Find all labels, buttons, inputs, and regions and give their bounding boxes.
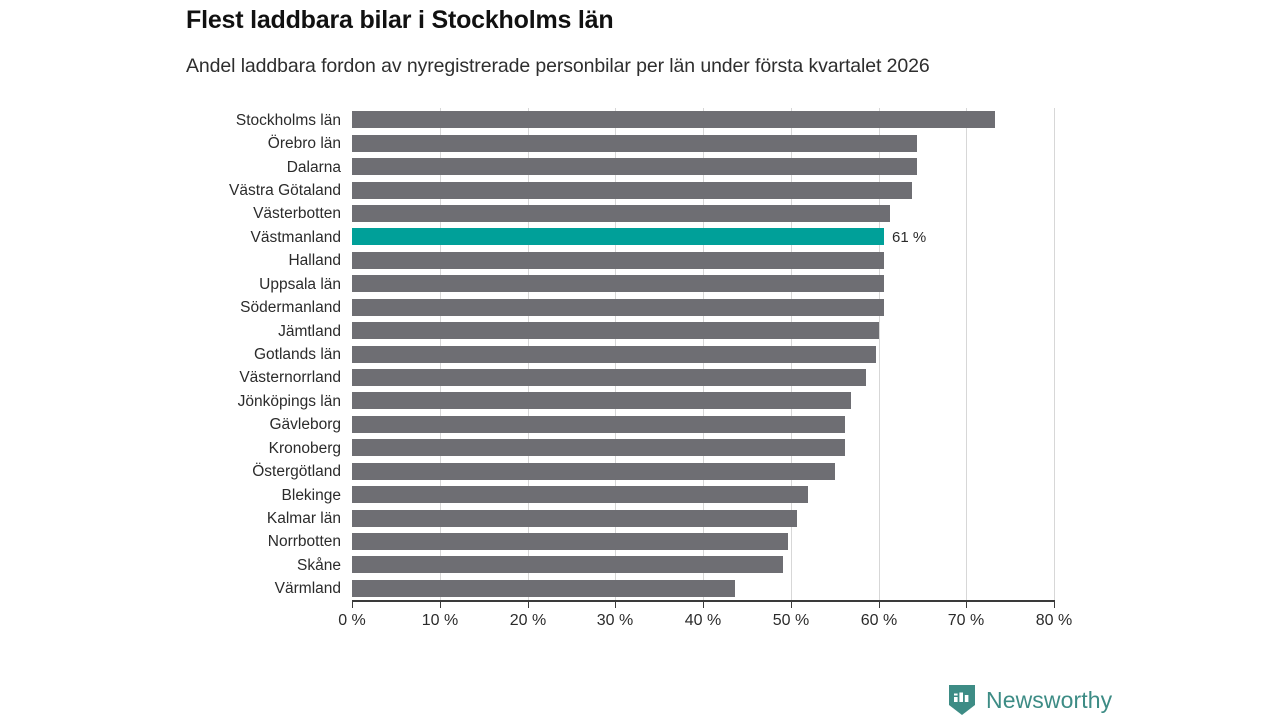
category-label: Stockholms län xyxy=(41,112,341,130)
category-label: Halland xyxy=(41,252,341,270)
category-label: Uppsala län xyxy=(41,276,341,294)
category-label: Blekinge xyxy=(41,487,341,505)
category-label: Kronoberg xyxy=(41,440,341,458)
bar-value-label: 61 % xyxy=(892,229,926,246)
x-axis-tick xyxy=(615,602,616,608)
category-label: Södermanland xyxy=(41,299,341,317)
bar-highlighted[interactable] xyxy=(352,228,884,245)
bar[interactable] xyxy=(352,510,797,527)
category-label: Dalarna xyxy=(41,159,341,177)
x-axis-tick xyxy=(1054,602,1055,608)
category-label: Östergötland xyxy=(41,463,341,481)
x-tick-label: 80 % xyxy=(1014,612,1094,630)
x-axis-tick xyxy=(528,602,529,608)
x-tick-label: 40 % xyxy=(663,612,743,630)
x-tick-label: 50 % xyxy=(751,612,831,630)
category-label: Jönköpings län xyxy=(41,393,341,411)
category-label: Kalmar län xyxy=(41,510,341,528)
bar[interactable] xyxy=(352,182,912,199)
category-label: Värmland xyxy=(41,580,341,598)
x-axis-tick xyxy=(440,602,441,608)
x-tick-label: 30 % xyxy=(575,612,655,630)
category-label: Skåne xyxy=(41,557,341,575)
bar[interactable] xyxy=(352,346,876,363)
x-axis-tick xyxy=(703,602,704,608)
x-tick-label: 0 % xyxy=(312,612,392,630)
x-axis-tick xyxy=(966,602,967,608)
bar[interactable] xyxy=(352,275,884,292)
gridline xyxy=(1054,108,1055,600)
bar[interactable] xyxy=(352,463,835,480)
x-tick-label: 20 % xyxy=(488,612,568,630)
bar[interactable] xyxy=(352,205,890,222)
bar[interactable] xyxy=(352,486,808,503)
plot-area xyxy=(352,108,1054,600)
category-label: Örebro län xyxy=(41,135,341,153)
bar[interactable] xyxy=(352,533,788,550)
bar[interactable] xyxy=(352,416,845,433)
category-label: Västernorrland xyxy=(41,369,341,387)
bar[interactable] xyxy=(352,322,879,339)
page-title: Flest laddbara bilar i Stockholms län xyxy=(186,6,1186,35)
gridline xyxy=(966,108,967,600)
x-axis-tick xyxy=(879,602,880,608)
category-label: Jämtland xyxy=(41,323,341,341)
category-label: Västmanland xyxy=(41,229,341,247)
category-label: Västra Götaland xyxy=(41,182,341,200)
brand-name: Newsworthy xyxy=(986,687,1112,714)
chart-bubble-icon xyxy=(947,684,977,716)
x-axis-tick xyxy=(791,602,792,608)
chart-subtitle: Andel laddbara fordon av nyregistrerade … xyxy=(186,55,1206,78)
bar[interactable] xyxy=(352,252,884,269)
bar[interactable] xyxy=(352,299,884,316)
bar[interactable] xyxy=(352,580,735,597)
bar[interactable] xyxy=(352,556,783,573)
bar[interactable] xyxy=(352,135,917,152)
x-axis-tick xyxy=(352,602,353,608)
category-label: Västerbotten xyxy=(41,205,341,223)
x-tick-label: 60 % xyxy=(839,612,919,630)
category-label: Norrbotten xyxy=(41,533,341,551)
newsworthy-logo: Newsworthy xyxy=(947,684,1112,716)
category-label: Gävleborg xyxy=(41,416,341,434)
bar[interactable] xyxy=(352,158,917,175)
x-tick-label: 70 % xyxy=(926,612,1006,630)
category-label: Gotlands län xyxy=(41,346,341,364)
bar[interactable] xyxy=(352,369,866,386)
x-tick-label: 10 % xyxy=(400,612,480,630)
bar[interactable] xyxy=(352,392,851,409)
bar[interactable] xyxy=(352,111,995,128)
chart-page: Flest laddbara bilar i Stockholms län An… xyxy=(0,0,1280,720)
bar[interactable] xyxy=(352,439,845,456)
